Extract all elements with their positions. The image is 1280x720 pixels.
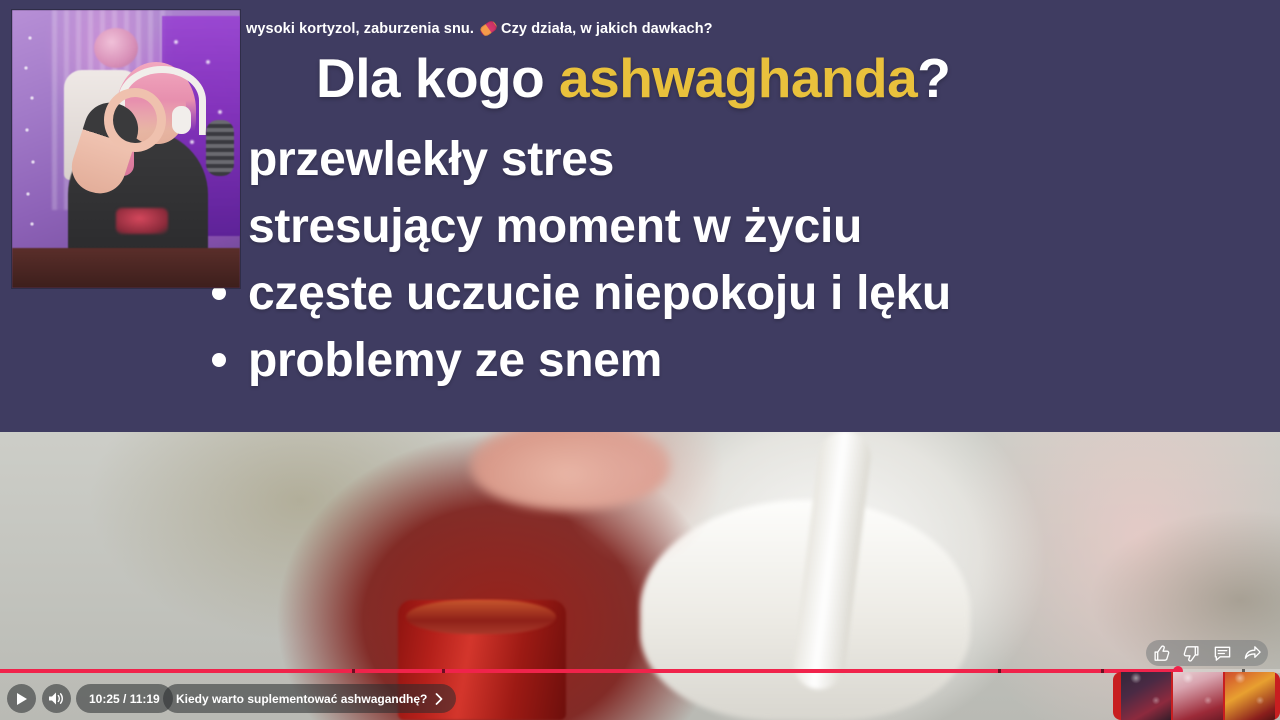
chapter-marker [442, 669, 445, 673]
like-icon[interactable] [1150, 642, 1172, 664]
bottle-rim [406, 600, 556, 634]
player-controls: 10:25 / 11:19 Kiedy warto suplementować … [0, 677, 1280, 720]
comment-icon[interactable] [1211, 642, 1233, 664]
endcard-panel[interactable] [1113, 672, 1280, 720]
time-display: 10:25 / 11:19 [76, 684, 173, 713]
share-icon[interactable] [1242, 642, 1264, 664]
chapter-label: Kiedy warto suplementować ashwagandhę? [176, 692, 427, 706]
slide-title-prefix: Dla kogo [316, 47, 559, 109]
chevron-right-icon [435, 693, 443, 705]
blurred-hand [470, 420, 670, 510]
list-item: problemy ze snem [200, 327, 1280, 394]
slide-title: Dla kogo ashwaghanda? [316, 46, 950, 110]
chapter-marker [1101, 669, 1104, 673]
bullet-label: stresujący moment w życiu [248, 193, 862, 260]
video-player[interactable]: wysoki kortyzol, zaburzenia snu.Czy dzia… [0, 0, 1280, 720]
dislike-icon[interactable] [1181, 642, 1203, 664]
chapter-marker [352, 669, 355, 673]
list-item: częste uczucie niepokoju i lęku [200, 260, 1280, 327]
play-button[interactable] [7, 684, 36, 713]
bullet-dot-icon [212, 353, 226, 367]
slide-title-suffix: ? [917, 47, 950, 109]
streamer-webcam-overlay [12, 10, 240, 288]
caption-text: wysoki kortyzol, zaburzenia snu.Czy dzia… [246, 21, 713, 37]
thumbnail-1[interactable] [1121, 672, 1171, 720]
slide-bullet-list: przewlekły stres stresujący moment w życ… [200, 126, 1280, 394]
video-actions-bar [1146, 640, 1268, 666]
endcard-thumbnails [1121, 672, 1275, 720]
webcam-lamp [94, 28, 138, 68]
webcam-string-lights [18, 28, 44, 238]
bullet-label: problemy ze snem [248, 327, 662, 394]
blurred-pestle [790, 428, 873, 692]
pill-emoji [478, 19, 498, 38]
slide-title-highlight: ashwaghanda [559, 47, 917, 109]
bullet-label: częste uczucie niepokoju i lęku [248, 260, 951, 327]
thumbnail-3[interactable] [1225, 672, 1275, 720]
chapter-title-button[interactable]: Kiedy warto suplementować ashwagandhę? [163, 684, 456, 713]
caption-part-1: wysoki kortyzol, zaburzenia snu. [246, 21, 474, 37]
webcam-shirt-logo [116, 208, 168, 234]
bullet-label: przewlekły stres [248, 126, 614, 193]
microphone-icon [206, 120, 234, 176]
play-icon [15, 692, 28, 706]
chapter-marker [998, 669, 1001, 673]
volume-button[interactable] [42, 684, 71, 713]
list-item: przewlekły stres [200, 126, 1280, 193]
time-label: 10:25 / 11:19 [89, 692, 160, 706]
list-item: stresujący moment w życiu [200, 193, 1280, 260]
webcam-desk [12, 248, 240, 288]
webcam-person-hand [104, 88, 166, 152]
thumbnail-2[interactable] [1173, 672, 1223, 720]
headphone-earcup [172, 106, 191, 134]
progress-bar[interactable] [0, 665, 1280, 677]
caption-part-2: Czy działa, w jakich dawkach? [501, 21, 713, 37]
bullet-dot-icon [212, 286, 226, 300]
volume-icon [48, 691, 65, 706]
presentation-slide: wysoki kortyzol, zaburzenia snu.Czy dzia… [0, 0, 1280, 432]
